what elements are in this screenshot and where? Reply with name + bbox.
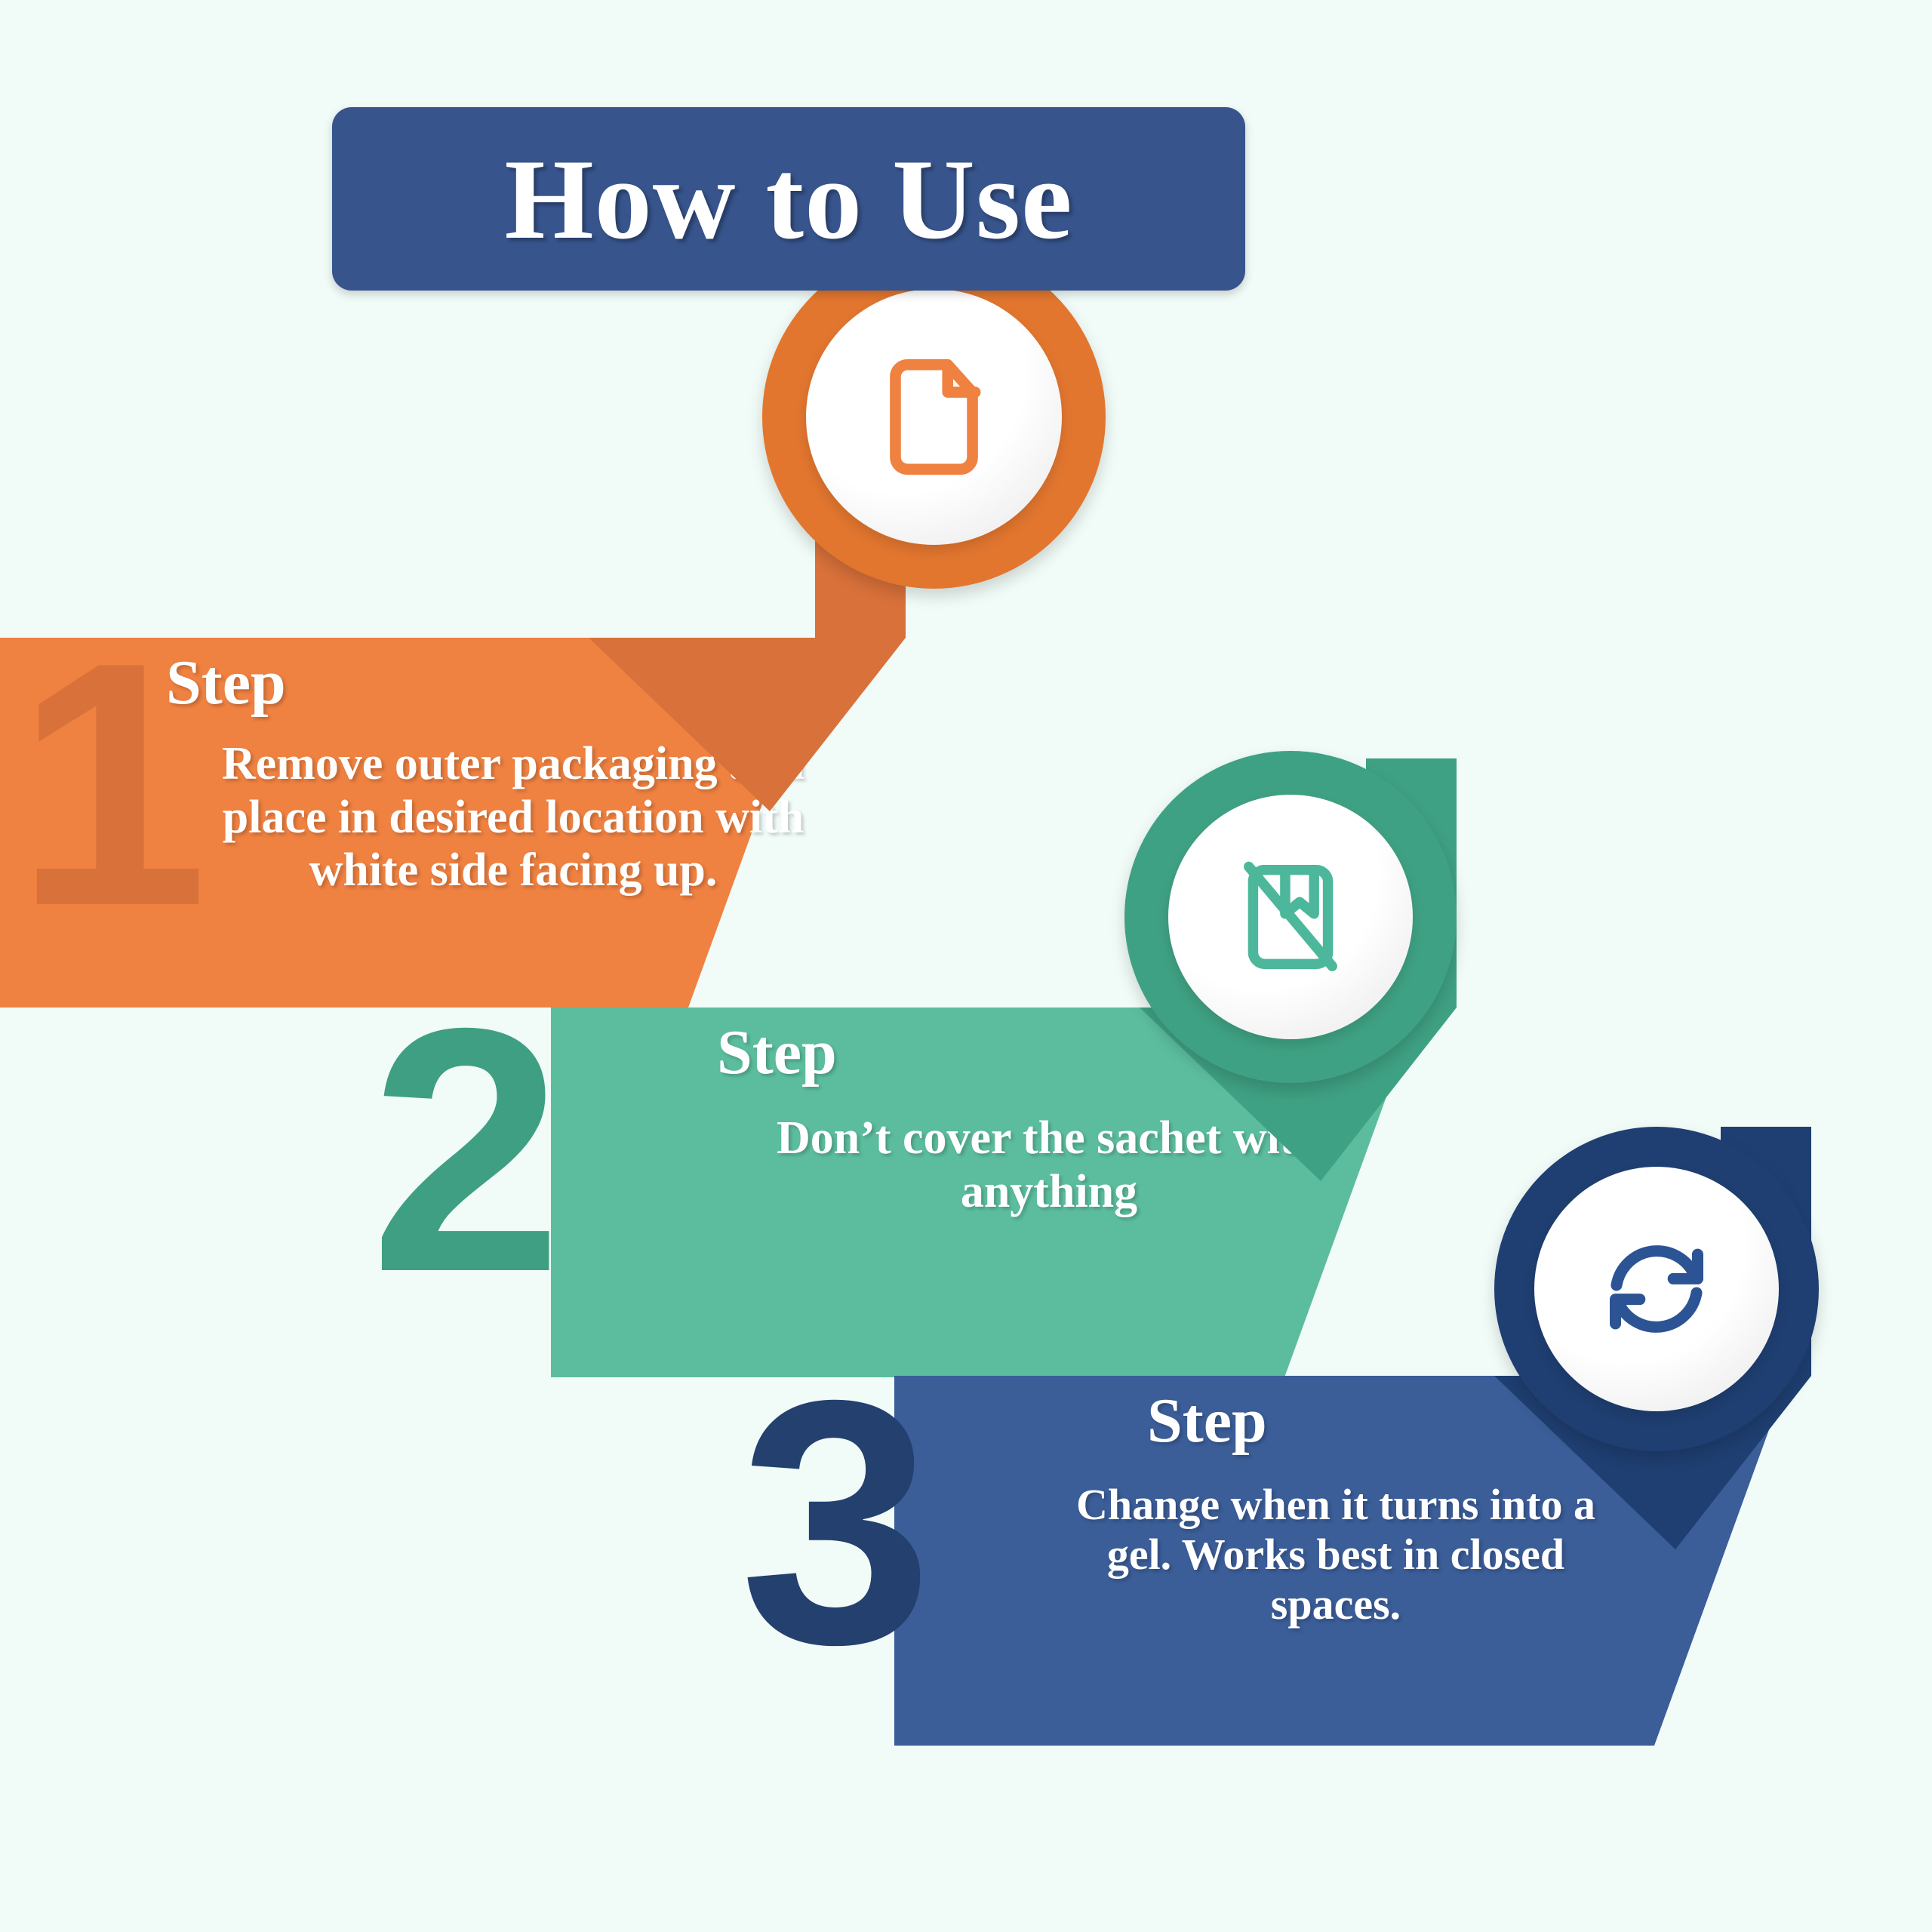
pin-inner-circle-3 <box>1534 1167 1779 1411</box>
step-row-2: 2 Step Don’t cover the sachet with anyth… <box>370 1008 1441 1385</box>
infographic-canvas: How to Use 1 Step Remove outer packaging… <box>0 0 1932 1932</box>
document-icon <box>868 351 1000 483</box>
no-cover-book-icon <box>1226 853 1355 981</box>
pin-inner-circle-1 <box>806 289 1062 545</box>
step-number-3: 3 <box>740 1349 933 1697</box>
page-title-banner: How to Use <box>332 107 1245 291</box>
page-title: How to Use <box>504 142 1072 257</box>
pin-inner-circle-2 <box>1168 795 1413 1039</box>
refresh-sync-icon <box>1592 1224 1721 1354</box>
step-number-2: 2 <box>370 977 563 1324</box>
step-row-3: 3 Step Change when it turns into a gel. … <box>740 1376 1826 1753</box>
